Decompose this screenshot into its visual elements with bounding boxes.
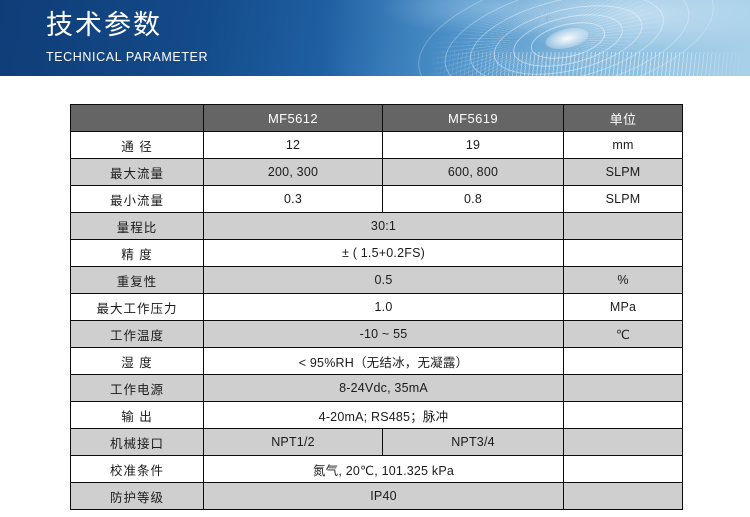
row-unit: SLPM (564, 186, 683, 213)
row-unit (564, 348, 683, 375)
column-header-unit: 单位 (564, 105, 683, 132)
row-unit: % (564, 267, 683, 294)
row-value-mf5619: 0.8 (383, 186, 564, 213)
row-unit: ℃ (564, 321, 683, 348)
column-header-mf5612: MF5612 (204, 105, 383, 132)
row-parameter-label: 重复性 (71, 267, 204, 294)
table-row: 工作电源8-24Vdc, 35mA (71, 375, 683, 402)
row-value-mf5619: NPT3/4 (383, 429, 564, 456)
row-parameter-label: 最小流量 (71, 186, 204, 213)
column-header-parameter (71, 105, 204, 132)
row-value-mf5612: 12 (204, 132, 383, 159)
row-parameter-label: 工作电源 (71, 375, 204, 402)
table-row: 湿 度< 95%RH（无结冰，无凝露） (71, 348, 683, 375)
table-row: 重复性0.5% (71, 267, 683, 294)
table-row: 校准条件氮气, 20℃, 101.325 kPa (71, 456, 683, 483)
banner-title-chinese: 技术参数 (46, 8, 208, 42)
row-unit (564, 429, 683, 456)
column-header-mf5619: MF5619 (383, 105, 564, 132)
row-value-mf5619: 19 (383, 132, 564, 159)
row-parameter-label: 湿 度 (71, 348, 204, 375)
row-parameter-label: 通 径 (71, 132, 204, 159)
table-row: 精 度± ( 1.5+0.2FS) (71, 240, 683, 267)
table-row: 最小流量0.30.8SLPM (71, 186, 683, 213)
row-parameter-label: 最大流量 (71, 159, 204, 186)
row-value-merged: 4-20mA; RS485；脉冲 (204, 402, 564, 429)
page-banner: 技术参数 TECHNICAL PARAMETER (0, 0, 750, 76)
row-value-merged: -10 ~ 55 (204, 321, 564, 348)
row-value-mf5619: 600, 800 (383, 159, 564, 186)
row-unit: mm (564, 132, 683, 159)
table-row: 工作温度-10 ~ 55℃ (71, 321, 683, 348)
row-value-merged: 0.5 (204, 267, 564, 294)
ripple-wave-hatching (430, 52, 750, 76)
table-row: 通 径1219mm (71, 132, 683, 159)
table-row: 防护等级IP40 (71, 483, 683, 510)
table-row: 量程比30:1 (71, 213, 683, 240)
table-row: 输 出4-20mA; RS485；脉冲 (71, 402, 683, 429)
row-unit (564, 483, 683, 510)
row-parameter-label: 校准条件 (71, 456, 204, 483)
row-value-merged: 1.0 (204, 294, 564, 321)
row-value-mf5612: NPT1/2 (204, 429, 383, 456)
row-unit (564, 456, 683, 483)
table-row: 最大工作压力1.0MPa (71, 294, 683, 321)
row-unit (564, 375, 683, 402)
technical-parameter-table-wrapper: MF5612 MF5619 单位 通 径1219mm最大流量200, 30060… (70, 104, 682, 510)
table-header: MF5612 MF5619 单位 (71, 105, 683, 132)
row-parameter-label: 防护等级 (71, 483, 204, 510)
row-value-merged: < 95%RH（无结冰，无凝露） (204, 348, 564, 375)
row-parameter-label: 最大工作压力 (71, 294, 204, 321)
row-value-merged: 氮气, 20℃, 101.325 kPa (204, 456, 564, 483)
row-unit: SLPM (564, 159, 683, 186)
banner-text-block: 技术参数 TECHNICAL PARAMETER (46, 8, 208, 65)
row-parameter-label: 工作温度 (71, 321, 204, 348)
row-parameter-label: 输 出 (71, 402, 204, 429)
row-value-merged: 8-24Vdc, 35mA (204, 375, 564, 402)
row-value-merged: ± ( 1.5+0.2FS) (204, 240, 564, 267)
technical-parameter-table: MF5612 MF5619 单位 通 径1219mm最大流量200, 30060… (70, 104, 683, 510)
row-unit: MPa (564, 294, 683, 321)
row-unit (564, 402, 683, 429)
row-value-mf5612: 200, 300 (204, 159, 383, 186)
table-header-row: MF5612 MF5619 单位 (71, 105, 683, 132)
row-value-mf5612: 0.3 (204, 186, 383, 213)
row-unit (564, 213, 683, 240)
row-unit (564, 240, 683, 267)
row-parameter-label: 精 度 (71, 240, 204, 267)
table-body: 通 径1219mm最大流量200, 300600, 800SLPM最小流量0.3… (71, 132, 683, 510)
table-row: 机械接口NPT1/2NPT3/4 (71, 429, 683, 456)
banner-title-english: TECHNICAL PARAMETER (46, 49, 208, 65)
row-value-merged: 30:1 (204, 213, 564, 240)
table-row: 最大流量200, 300600, 800SLPM (71, 159, 683, 186)
row-parameter-label: 机械接口 (71, 429, 204, 456)
row-parameter-label: 量程比 (71, 213, 204, 240)
row-value-merged: IP40 (204, 483, 564, 510)
